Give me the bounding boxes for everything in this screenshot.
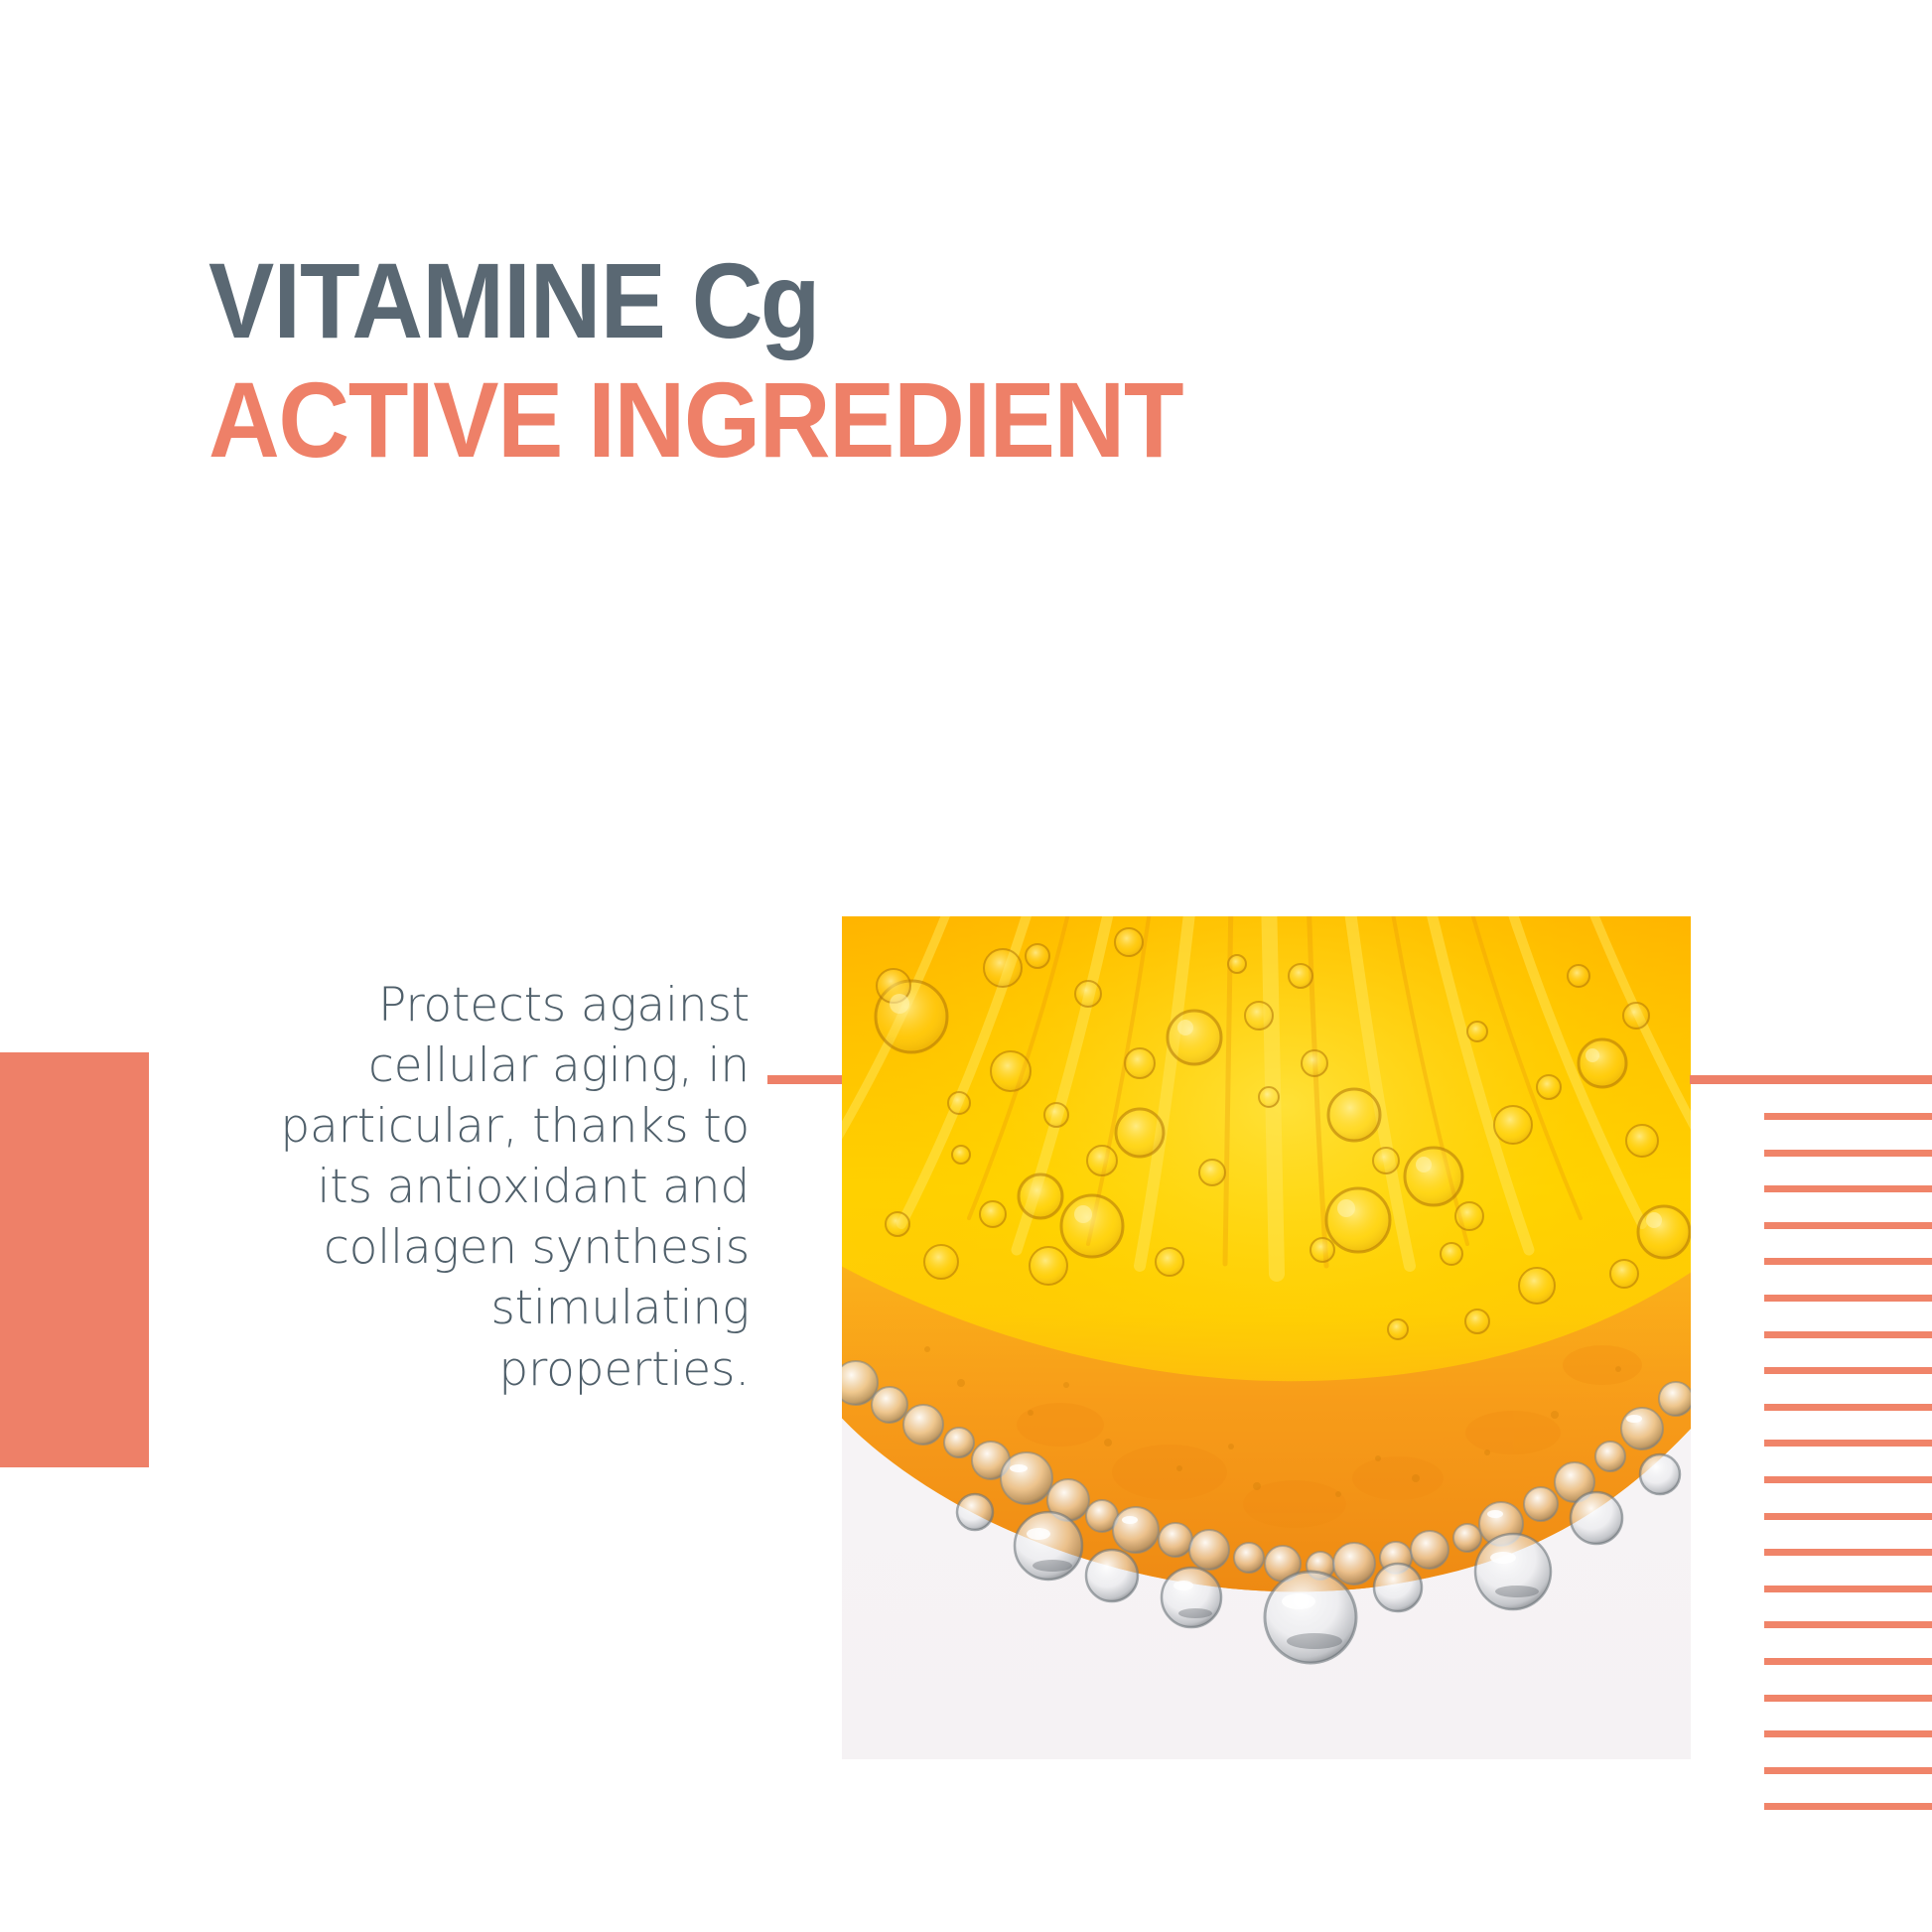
decor-rule: [1764, 1621, 1932, 1628]
decor-rule: [1764, 1367, 1932, 1374]
decor-rule: [1764, 1258, 1932, 1265]
headline-block: VITAMINE Cg ACTIVE INGREDIENT: [208, 246, 1598, 475]
orange-slice-illustration: [842, 916, 1691, 1759]
title-main: VITAMINE: [208, 240, 665, 360]
slide-canvas: VITAMINE Cg ACTIVE INGREDIENT Protects a…: [0, 0, 1932, 1932]
decor-rule: [1764, 1222, 1932, 1229]
title-tail: Cg: [692, 240, 818, 360]
right-rule-stack: [1764, 1113, 1932, 1808]
decor-rule: [1764, 1185, 1932, 1192]
decor-rule: [1764, 1586, 1932, 1592]
decor-rule: [1764, 1113, 1932, 1120]
decor-rule: [1764, 1404, 1932, 1411]
decor-rule: [1764, 1513, 1932, 1520]
decor-rule: [1764, 1440, 1932, 1447]
decor-rule: [1764, 1803, 1932, 1810]
decor-rule: [1764, 1695, 1932, 1702]
right-connector-rule: [1690, 1075, 1932, 1084]
decor-rule: [1764, 1295, 1932, 1302]
decor-rule: [1764, 1331, 1932, 1338]
decor-rule: [1764, 1767, 1932, 1774]
connector-rule: [767, 1075, 843, 1084]
decor-rule: [1764, 1549, 1932, 1556]
decor-rule: [1764, 1658, 1932, 1665]
page-subtitle: ACTIVE INGREDIENT: [208, 365, 1487, 475]
decor-rule: [1764, 1730, 1932, 1737]
page-title: VITAMINE Cg: [208, 246, 1487, 355]
decor-rule: [1764, 1150, 1932, 1157]
body-paragraph: Protects against cellular aging, in part…: [253, 975, 750, 1400]
decor-rule: [1764, 1476, 1932, 1483]
left-accent-block: [0, 1052, 149, 1467]
orange-slice-photo: [842, 916, 1691, 1759]
